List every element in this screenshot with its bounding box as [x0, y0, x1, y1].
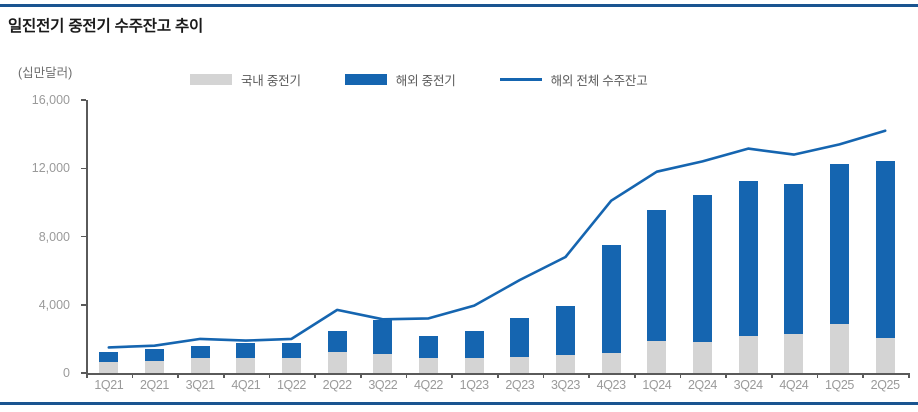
bar-segment-overseas — [602, 245, 621, 353]
y-axis-tick-label: 8,000 — [8, 230, 70, 244]
bar-segment-domestic — [739, 336, 758, 373]
bar-segment-domestic — [830, 324, 849, 373]
bar-segment-overseas — [99, 352, 118, 362]
bar-segment-domestic — [282, 358, 301, 373]
bar-segment-domestic — [419, 358, 438, 373]
bar-segment-overseas — [373, 320, 392, 354]
y-axis-tick-label: 0 — [8, 366, 70, 380]
bar-segment-overseas — [465, 331, 484, 357]
bar-segment-overseas — [328, 331, 347, 351]
bar-segment-overseas — [236, 343, 255, 358]
bar-segment-domestic — [328, 352, 347, 373]
y-axis-tick — [81, 99, 86, 101]
bar-segment-domestic — [784, 334, 803, 373]
bar-segment-overseas — [784, 184, 803, 334]
bar-segment-domestic — [556, 355, 575, 373]
bar-segment-domestic — [236, 358, 255, 373]
bar-segment-overseas — [145, 349, 164, 361]
chart-page: 일진전기 중전기 수주잔고 추이 (십만달러) 국내 중전기 해외 중전기 해외… — [0, 0, 918, 412]
bar-segment-overseas — [876, 161, 895, 338]
bar-segment-overseas — [647, 210, 666, 341]
bar-segment-domestic — [99, 362, 118, 373]
bar-segment-domestic — [693, 342, 712, 373]
bar-segment-domestic — [465, 358, 484, 373]
y-axis-tick — [81, 168, 86, 170]
plot-area: 04,0008,00012,00016,0001Q212Q213Q214Q211… — [0, 0, 918, 412]
y-axis-tick — [81, 236, 86, 238]
bar-segment-overseas — [419, 336, 438, 357]
bar-segment-domestic — [145, 361, 164, 373]
y-axis-line — [86, 100, 88, 373]
bar-segment-domestic — [373, 354, 392, 373]
bar-segment-overseas — [191, 346, 210, 359]
bar-segment-domestic — [191, 358, 210, 373]
y-axis-tick-label: 16,000 — [8, 93, 70, 107]
x-axis-tick-label: 2Q25 — [858, 378, 912, 392]
bar-segment-overseas — [693, 195, 712, 343]
bar-segment-domestic — [647, 341, 666, 373]
bar-segment-overseas — [739, 181, 758, 336]
bar-segment-domestic — [510, 357, 529, 373]
y-axis-tick-label: 4,000 — [8, 298, 70, 312]
bar-segment-domestic — [602, 353, 621, 373]
y-axis-tick — [81, 304, 86, 306]
bar-segment-overseas — [830, 164, 849, 324]
y-axis-tick-label: 12,000 — [8, 161, 70, 175]
bar-segment-overseas — [510, 318, 529, 356]
bar-segment-domestic — [876, 338, 895, 373]
bar-segment-overseas — [282, 343, 301, 358]
bar-segment-overseas — [556, 306, 575, 355]
